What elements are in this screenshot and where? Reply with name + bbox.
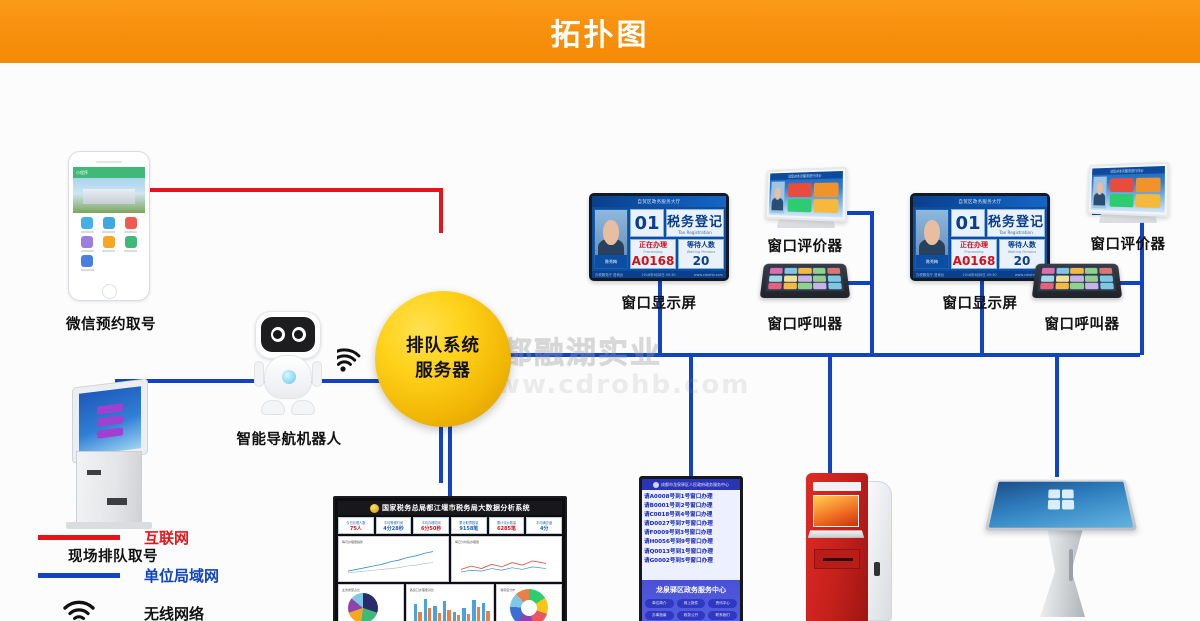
wechat-phone-device[interactable]: 小程序 (68, 151, 150, 301)
window-display-info: 01 税务登记 Tax Registration 正在办理 Processing (951, 209, 1045, 269)
phone-screen: 小程序 (73, 167, 145, 279)
rating-button-satisfied[interactable] (1135, 178, 1160, 192)
bigdata-kpi: 平均满意度 4分 (526, 517, 562, 534)
footer-left-text: 办税服务厅 咨询台 (595, 272, 623, 277)
bigdata-kpi: 今日办理人数 75人 (338, 517, 374, 534)
queue-call-line: 请F0009号到3号窗口办理 (644, 529, 738, 538)
queue-call-list: 请A0008号到1号窗口办理 请B0001号到2号窗口办理 请C0018号到4号… (642, 490, 740, 580)
kiosk-card-slot (87, 470, 101, 475)
legend-row-lan: 单位局域网 (30, 556, 260, 594)
touch-query-stand-slot (1069, 549, 1073, 581)
phone-tile[interactable] (121, 217, 140, 233)
kiosk-top-banner (813, 482, 861, 491)
bar-group (482, 596, 490, 621)
legend-wifi-icon (38, 600, 120, 621)
processing-block: 正在办理 Processing A0168 (951, 239, 997, 269)
wechat-phone-label: 微信预约取号 (36, 313, 186, 334)
processing-value: A0168 (632, 254, 675, 268)
server-label-line-2: 服务器 (415, 359, 471, 384)
caller-key[interactable] (784, 275, 797, 281)
robot-eye-right (292, 327, 306, 342)
window-display-row-service: 01 税务登记 Tax Registration (951, 209, 1045, 237)
tile-caption (81, 231, 94, 233)
robot-body (264, 355, 312, 399)
window-display-device-2[interactable]: 自贸区政务服务大厅 陈秀梅 01 税务登记 Tax Registration (910, 193, 1050, 281)
comprehensive-nav-pills: 单位简介 网上报件 资讯中心 办事指南 政务公开 联系我们 (645, 599, 737, 620)
tile-caption (124, 250, 137, 252)
caller-key[interactable] (813, 268, 826, 274)
window-display-row-status: 正在办理 Processing A0168 等待人数 Waiting Perso… (951, 239, 1045, 269)
robot-arm-left (254, 361, 264, 387)
hall-title: 自贸区政务服务大厅 (958, 199, 1001, 205)
window-caller-device-2[interactable] (1034, 255, 1120, 301)
tile-icon (125, 217, 137, 229)
bigdata-pie-chart: 业务类型占比 (338, 584, 404, 621)
processing-label-cn: 正在办理 (639, 240, 667, 250)
watermark: 成都融湖实业 www.cdrohb.com (470, 321, 770, 416)
robot-arm-right (312, 361, 322, 387)
queue-call-line: 请D0027号到7号窗口办理 (644, 520, 738, 529)
caller-key[interactable] (1055, 283, 1069, 290)
queue-call-line: 请A0008号到1号窗口办理 (644, 493, 738, 502)
kiosk-side-panel (864, 481, 892, 621)
window-display-label-1: 窗口显示屏 (589, 292, 729, 313)
phone-tile-grid (73, 213, 145, 273)
topology-diagram-page: 拓扑图 (0, 0, 1200, 621)
footer-right-text: www.cdrohb.com (694, 273, 723, 277)
caller-key[interactable] (827, 275, 841, 281)
panel-title: 业务类型占比 (342, 588, 360, 592)
comprehensive-display-device[interactable]: 成都市龙泉驿区人民政府政务服务中心 请A0008号到1号窗口办理 请B0001号… (639, 476, 743, 621)
wire-internet-phone-horizontal (150, 188, 443, 192)
phone-app-header: 小程序 (73, 167, 145, 178)
tile-icon (81, 236, 93, 248)
tile-caption (81, 269, 94, 271)
kiosk-main-cabinet (806, 473, 868, 621)
queue-call-line: 请Q0013号到1号窗口办理 (644, 548, 738, 557)
caller-key[interactable] (769, 275, 783, 281)
nav-pill[interactable]: 网上报件 (677, 599, 706, 608)
service-name-cn: 税务登记 (667, 211, 723, 230)
phone-speaker (96, 161, 122, 163)
tile-icon (81, 217, 93, 229)
phone-tile[interactable] (100, 217, 119, 233)
bigdata-bar-chart: 各窗口办理量对比 (406, 584, 494, 621)
processing-label-cn: 正在办理 (960, 240, 988, 250)
caller-key[interactable] (827, 268, 840, 274)
evaluator-header-text: 请您对本次服务进行评价 (1110, 168, 1144, 174)
kiosk-keyboard-shelf (808, 530, 864, 537)
bigdata-analysis-display-device[interactable]: 国家税务总局都江堰市税务局大数据分析系统 今日办理人数 75人 平均等候时间 4… (333, 496, 567, 621)
processing-block: 正在办理 Processing A0168 (630, 239, 676, 269)
rating-button-unsatisfied[interactable] (1135, 194, 1161, 209)
staff-name: 陈秀梅 (916, 255, 948, 268)
window-display-row-service: 01 税务登记 Tax Registration (630, 209, 724, 237)
window-evaluator-device-2[interactable]: 请您对本次服务进行评价 (1084, 163, 1172, 229)
caller-key[interactable] (770, 268, 783, 274)
robot-foot-left (261, 400, 285, 415)
bar-group (462, 596, 470, 621)
caller-key[interactable] (813, 275, 826, 281)
wire-lan-drop-selfservice (828, 357, 832, 475)
evaluator-screen[interactable]: 请您对本次服务进行评价 (765, 167, 847, 222)
kiosk-body (76, 451, 142, 523)
comprehensive-footer-title: 龙泉驿区政务服务中心 (656, 585, 726, 595)
caller-key[interactable] (798, 283, 812, 290)
caller-key[interactable] (1085, 275, 1098, 281)
footer-left-text: 办税服务厅 咨询台 (916, 272, 944, 277)
kiosk-screen[interactable] (79, 386, 141, 456)
caller-key[interactable] (784, 268, 797, 274)
phone-home-button[interactable] (102, 284, 117, 299)
staff-name: 陈秀梅 (595, 255, 627, 268)
legend-label-internet: 互联网 (144, 527, 189, 548)
kpi-value: 4分28秒 (383, 525, 403, 532)
phone-hero-image (73, 178, 145, 213)
touch-query-desktop (989, 482, 1134, 528)
navigation-robot-label: 智能导航机器人 (215, 428, 363, 449)
caller-keypad (1038, 266, 1116, 291)
comprehensive-screen: 成都市龙泉驿区人民政府政务服务中心 请A0008号到1号窗口办理 请B0001号… (642, 479, 740, 621)
bigdata-kpi-row: 今日办理人数 75人 平均等候时间 4分28秒 平均办理时间 6分50秒 累计取… (338, 517, 562, 534)
legend-line-internet-icon (38, 535, 120, 540)
caller-key[interactable] (1056, 268, 1069, 274)
tile-caption (102, 250, 115, 252)
caller-key[interactable] (1099, 268, 1112, 274)
phone-tile[interactable] (78, 255, 97, 271)
self-service-kiosk-device[interactable] (800, 473, 900, 621)
navigation-robot-device[interactable] (250, 311, 326, 415)
bar-group (453, 596, 461, 621)
phone-tile[interactable] (121, 236, 140, 252)
waiting-label-cn: 等待人数 (687, 240, 715, 250)
kpi-value: 4分 (540, 525, 548, 532)
nav-pill[interactable]: 政务公开 (677, 611, 706, 620)
kiosk-dispenser-drawer (814, 549, 860, 569)
touch-query-screen[interactable] (985, 480, 1138, 531)
bar-group (472, 596, 480, 621)
panel-title: 各窗口办理量对比 (410, 588, 434, 592)
kiosk-screen-button[interactable] (97, 415, 123, 426)
robot-foot-right (291, 400, 315, 415)
bigdata-kpi: 累计评价数量 6285笔 (489, 517, 525, 534)
evaluator-header-text: 请您对本次服务进行评价 (788, 173, 822, 179)
staff-photo: 陈秀梅 (915, 209, 949, 269)
panel-title: 满意度分布 (500, 588, 515, 592)
kiosk-ticket-slot (107, 498, 127, 505)
bigdata-donut-chart: 满意度分布 (496, 584, 562, 621)
nav-pill[interactable]: 办事指南 (645, 611, 674, 620)
wire-internet-phone-vertical (439, 188, 443, 233)
window-evaluator-label-2: 窗口评价器 (1068, 233, 1188, 254)
waiting-value: 20 (1014, 254, 1031, 268)
nav-pill[interactable]: 资讯中心 (708, 599, 737, 608)
window-display-hall-bar: 自贸区政务服务大厅 (913, 196, 1047, 207)
rating-button-very-satisfied[interactable] (788, 183, 812, 197)
rating-button-satisfied[interactable] (813, 183, 838, 197)
kpi-value: 6分50秒 (421, 525, 441, 532)
caller-key[interactable] (1056, 275, 1069, 281)
bigdata-chart-row-bottom: 业务类型占比 各窗口办理量对比 (338, 584, 562, 621)
evaluator-ui: 请您对本次服务进行评价 (769, 171, 843, 218)
bar-group (424, 596, 432, 621)
window-display-body: 陈秀梅 01 税务登记 Tax Registration (592, 207, 726, 271)
footer-mid-text: 2018年6月8日 09:30 (963, 272, 997, 277)
caller-key[interactable] (768, 283, 782, 290)
service-name-block: 税务登记 Tax Registration (666, 209, 724, 237)
diagram-stage: 成都融湖实业 www.cdrohb.com 小程序 (0, 63, 1200, 621)
caller-key[interactable] (828, 283, 842, 290)
rating-button-basic-satisfied[interactable] (1110, 193, 1134, 207)
waiting-value: 20 (693, 254, 710, 268)
wire-lan-drop-comprehensive (689, 357, 693, 477)
legend-row-wireless: 无线网络 (30, 594, 260, 621)
evaluator-screen[interactable]: 请您对本次服务进行评价 (1087, 162, 1169, 217)
wire-lan-drop-touchquery (1055, 357, 1059, 477)
legend-line-lan-icon (38, 573, 120, 578)
caller-body (1032, 264, 1122, 298)
bigdata-kpi: 累计取票数量 9158笔 (451, 517, 487, 534)
window-number: 01 (630, 209, 664, 237)
rating-button-unsatisfied[interactable] (813, 199, 839, 214)
touch-query-stand (1037, 521, 1085, 617)
panel-title: 每日分时段办理量 (455, 540, 479, 544)
legend-row-internet: 互联网 (30, 518, 260, 556)
queue-call-line: 请C0018号到4号窗口办理 (644, 511, 738, 520)
window-display-footer: 办税服务厅 咨询台 2018年6月8日 09:30 www.cdrohb.com (913, 271, 1047, 278)
government-emblem-icon (653, 482, 659, 488)
page-title: 拓扑图 (551, 10, 650, 54)
panel-title: 每月办理量趋势 (342, 540, 363, 544)
window-caller-device-1[interactable] (762, 255, 848, 301)
window-display-screen: 自贸区政务服务大厅 陈秀梅 01 税务登记 Tax Registration (592, 196, 726, 278)
waiting-block: 等待人数 Waiting Persons 20 (678, 239, 724, 269)
window-number: 01 (951, 209, 985, 237)
caller-body (760, 264, 850, 298)
comprehensive-header: 成都市龙泉驿区人民政府政务服务中心 (642, 479, 740, 490)
queue-call-line: 请B0001号到2号窗口办理 (644, 502, 738, 511)
robot-face-screen (261, 317, 315, 352)
caller-key[interactable] (1085, 283, 1099, 290)
caller-key[interactable] (798, 275, 811, 281)
legend: 互联网 单位局域网 无线网络 (30, 518, 260, 621)
kiosk-screen-button[interactable] (97, 427, 123, 438)
nav-pill[interactable]: 单位简介 (645, 599, 674, 608)
wifi-signal-icon (337, 345, 371, 379)
kpi-value: 75人 (350, 525, 362, 532)
wire-lan-server-down (439, 423, 443, 483)
caller-key[interactable] (1099, 275, 1113, 281)
bigdata-chart-row-top: 每月办理量趋势 每日分时段办理量 (338, 536, 562, 582)
robot-chest-light (282, 370, 296, 384)
caller-key[interactable] (1041, 275, 1055, 281)
comprehensive-footer: 龙泉驿区政务服务中心 单位简介 网上报件 资讯中心 办事指南 政务公开 联系我们 (642, 580, 740, 621)
touch-query-machine-device[interactable] (985, 471, 1141, 621)
caller-key[interactable] (1100, 283, 1114, 290)
bigdata-title-bar: 国家税务总局都江堰市税务局大数据分析系统 (338, 501, 562, 515)
window-display-device-1[interactable]: 自贸区政务服务大厅 陈秀梅 01 税务登记 Tax Registration (589, 193, 729, 281)
window-caller-label-1: 窗口呼叫器 (745, 313, 865, 334)
service-name-en: Tax Registration (678, 230, 712, 235)
evaluator-staff-photo (770, 182, 784, 214)
legend-label-lan: 单位局域网 (144, 565, 219, 586)
server-label-line-1: 排队系统 (406, 334, 480, 359)
rating-button-basic-satisfied[interactable] (788, 198, 812, 212)
bigdata-kpi: 平均等候时间 4分28秒 (376, 517, 412, 534)
window-display-info: 01 税务登记 Tax Registration 正在办理 Processing (630, 209, 724, 269)
service-name-en: Tax Registration (999, 230, 1033, 235)
wire-lan-main-bus (505, 353, 1140, 357)
kiosk-display-screen[interactable] (813, 495, 859, 527)
tile-icon (81, 255, 93, 267)
bigdata-title: 国家税务总局都江堰市税务局大数据分析系统 (382, 503, 530, 513)
bar-group (443, 596, 451, 621)
donut-graphic (510, 589, 548, 621)
caller-key[interactable] (1070, 283, 1084, 290)
service-name-block: 税务登记 Tax Registration (987, 209, 1045, 237)
kpi-value: 9158笔 (459, 525, 478, 532)
caller-key[interactable] (1040, 283, 1054, 290)
evaluator-staff-photo (1092, 177, 1106, 209)
hall-title: 自贸区政务服务大厅 (637, 199, 680, 205)
kpi-value: 6285笔 (497, 525, 516, 532)
bar-group (414, 596, 422, 621)
queue-ticket-kiosk-device[interactable] (58, 383, 170, 523)
tax-bureau-logo-icon (370, 504, 379, 513)
caller-key[interactable] (1071, 268, 1084, 274)
service-name-cn: 税务登记 (988, 211, 1044, 230)
window-display-screen: 自贸区政务服务大厅 陈秀梅 01 税务登记 Tax Registration (913, 196, 1047, 278)
tile-icon (103, 236, 115, 248)
window-evaluator-device-1[interactable]: 请您对本次服务进行评价 (762, 168, 850, 234)
watermark-line-2: www.cdrohb.com (470, 370, 770, 400)
window-display-body: 陈秀梅 01 税务登记 Tax Registration (913, 207, 1047, 271)
queue-call-line: 请G0002号到5号窗口办理 (644, 557, 738, 566)
window-display-footer: 办税服务厅 咨询台 2018年6月8日 09:30 www.cdrohb.com (592, 271, 726, 278)
robot-head (255, 311, 321, 359)
window-display-label-2: 窗口显示屏 (910, 292, 1050, 313)
queue-system-server-node[interactable]: 排队系统 服务器 (375, 291, 511, 427)
bigdata-line-chart-right: 每日分时段办理量 (451, 536, 562, 582)
bar-graphic (414, 596, 490, 621)
bar-group (433, 596, 441, 621)
staff-photo: 陈秀梅 (594, 209, 628, 269)
tile-caption (102, 231, 115, 233)
pie-graphic (348, 593, 378, 621)
nav-pill[interactable]: 联系我们 (708, 611, 737, 620)
window-display-row-status: 正在办理 Processing A0168 等待人数 Waiting Perso… (630, 239, 724, 269)
evaluator-ui: 请您对本次服务进行评价 (1091, 166, 1165, 213)
bigdata-line-chart-left: 每月办理量趋势 (338, 536, 449, 582)
window-display-hall-bar: 自贸区政务服务大厅 (592, 196, 726, 207)
comprehensive-header-text: 成都市龙泉驿区人民政府政务服务中心 (661, 482, 729, 488)
tile-caption (81, 250, 94, 252)
footer-mid-text: 2018年6月8日 09:30 (642, 272, 676, 277)
phone-tile[interactable] (78, 236, 97, 252)
window-evaluator-label-1: 窗口评价器 (745, 235, 865, 256)
evaluator-body (769, 178, 843, 217)
caller-key[interactable] (1042, 268, 1055, 274)
phone-tile[interactable] (100, 236, 119, 252)
rating-button-very-satisfied[interactable] (1110, 178, 1134, 192)
wire-lan-lower-bus (439, 479, 443, 483)
phone-tile[interactable] (78, 217, 97, 233)
caller-keypad (766, 266, 844, 291)
diagram-canvas: 成都融湖实业 www.cdrohb.com 小程序 (0, 63, 1200, 621)
caller-key[interactable] (799, 268, 812, 274)
caller-key[interactable] (1085, 268, 1098, 274)
kiosk-screen-button[interactable] (97, 403, 123, 414)
bigdata-kpi: 平均办理时间 6分50秒 (413, 517, 449, 534)
processing-value: A0168 (953, 254, 996, 268)
kiosk-side-slot (874, 562, 880, 576)
page-header: 拓扑图 (0, 0, 1200, 63)
evaluator-rating-buttons (1108, 175, 1163, 210)
caller-key[interactable] (783, 283, 797, 290)
window-caller-label-2: 窗口呼叫器 (1022, 313, 1142, 334)
windows-logo-icon (1048, 490, 1075, 510)
tile-icon (125, 236, 137, 248)
evaluator-rating-buttons (786, 180, 841, 215)
phone-app-title: 小程序 (76, 170, 88, 176)
tile-caption (124, 231, 137, 233)
legend-label-wireless: 无线网络 (144, 603, 204, 621)
caller-key[interactable] (1070, 275, 1083, 281)
robot-eye-left (271, 327, 285, 342)
evaluator-body (1091, 173, 1165, 212)
waiting-label-cn: 等待人数 (1008, 240, 1036, 250)
caller-key[interactable] (813, 283, 827, 290)
tile-icon (103, 217, 115, 229)
queue-call-line: 请H0056号到9号窗口办理 (644, 538, 738, 547)
